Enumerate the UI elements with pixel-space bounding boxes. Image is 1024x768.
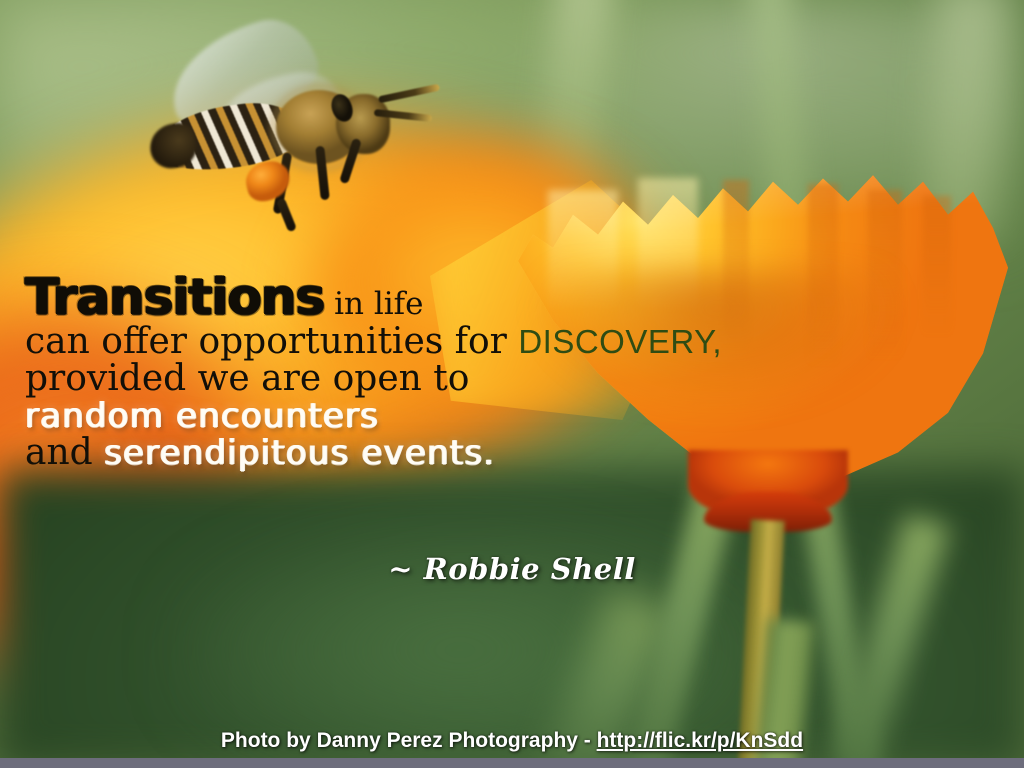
background-green-field-bottom [0,470,1024,768]
quote-line-2: can offer opportunities for DISCOVERY, [25,324,825,360]
quote-emphasis-discovery: DISCOVERY, [518,323,722,360]
poppy-petal-fold [923,196,951,361]
quote-text-block: Transitions in life can offer opportunit… [25,272,825,471]
photo-credit-link[interactable]: http://flic.kr/p/KnSdd [597,729,803,752]
background-stem [623,465,741,768]
quote-line-3: provided we are open to [25,361,825,397]
quote-attribution: ~ Robbie Shell [0,552,1024,586]
quote-line-2-lead: can offer opportunities for [25,321,518,362]
photo-credit: Photo by Danny Perez Photography - http:… [0,729,1024,753]
photo-credit-prefix: Photo by Danny Perez Photography - [221,729,597,752]
quote-handwritten-random-encounters: random encounters [25,396,379,436]
quote-line-5-lead: and [25,432,104,473]
quote-line-4: random encounters [25,399,825,433]
quote-handwritten-serendipitous-events: serendipitous events. [104,433,495,473]
bee-thorax [276,90,362,164]
bee-pollen-basket [242,157,294,205]
background-stem [790,427,880,768]
quote-line-1: Transitions in life [25,272,825,322]
bee-antenna [378,84,440,104]
bee-leg [315,146,330,201]
blurred-poppy-mass [0,470,290,730]
bee-wing [158,9,328,139]
quote-slide: Transitions in life can offer opportunit… [0,0,1024,768]
poppy-red-collar [704,492,832,532]
bee-abdomen [150,96,307,178]
bee-eye [328,92,356,125]
bee-leg [339,138,362,185]
bee-leg [276,198,297,233]
background-grass-blade [747,0,813,261]
quote-line-5: and serendipitous events. [25,435,825,471]
bee-wing [216,66,345,146]
bee-abdomen-tip [147,120,200,171]
bottom-status-bar [0,758,1024,768]
honey-bee [150,28,420,228]
poppy-petal-fold [868,190,902,390]
background-grass-blade [522,0,615,312]
background-grass-blade [921,0,1009,242]
bee-thorax-fuzz [272,86,368,170]
quote-headline: Transitions [25,268,324,326]
bee-leg [273,152,293,215]
bee-head [336,94,390,154]
quote-line-1-tail: in life [324,286,423,322]
bee-antenna [374,109,432,122]
